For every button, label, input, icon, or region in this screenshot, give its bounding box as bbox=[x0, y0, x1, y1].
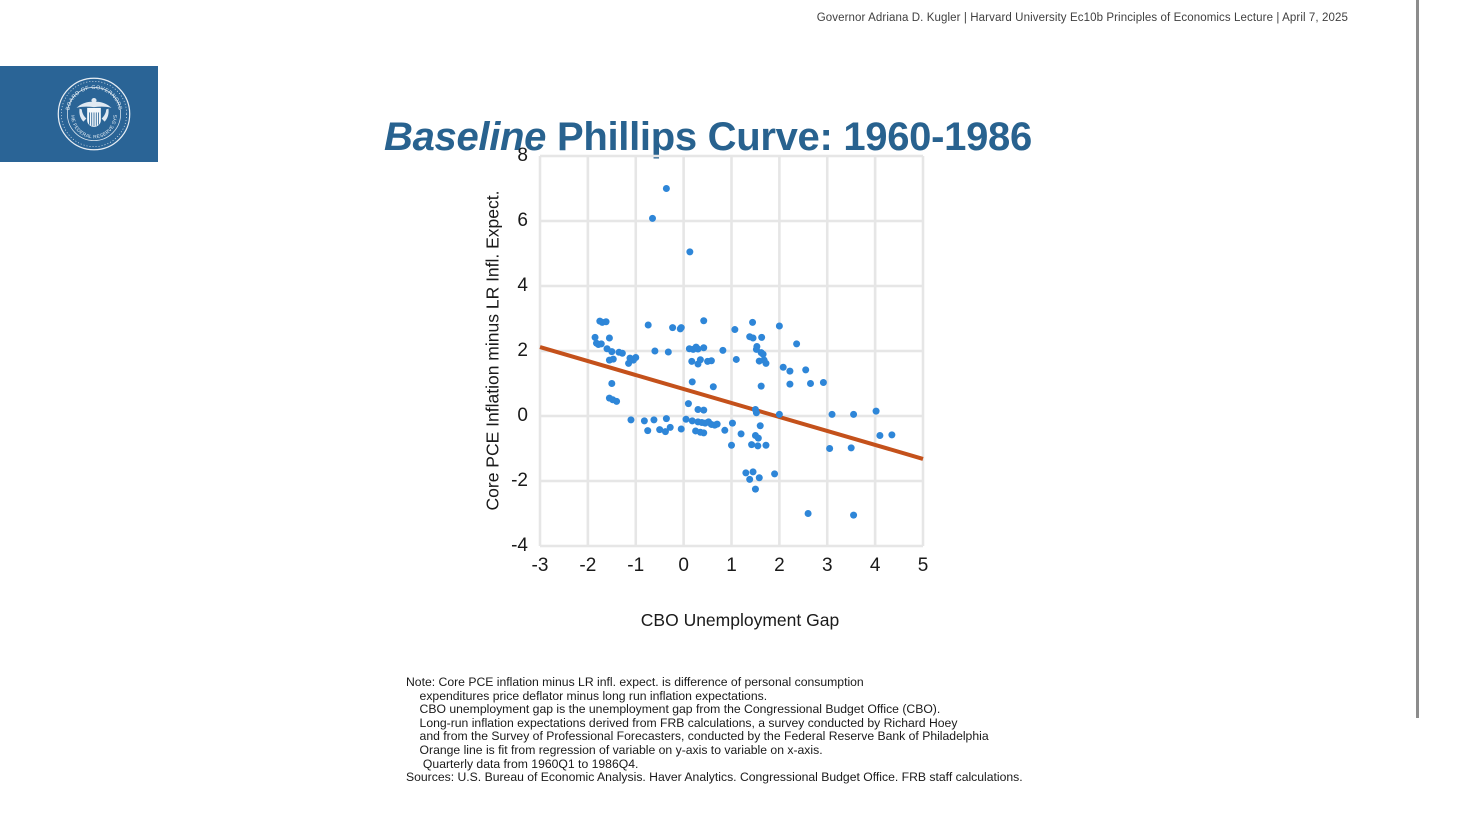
scatter-point bbox=[644, 427, 651, 434]
scatter-point bbox=[793, 340, 800, 347]
y-tick-label: -4 bbox=[511, 535, 528, 557]
scatter-point bbox=[776, 322, 783, 329]
scatter-point bbox=[746, 476, 753, 483]
footnote-line: Long-run inflation expectations derived … bbox=[406, 717, 1023, 731]
scatter-point bbox=[650, 416, 657, 423]
scatter-point bbox=[688, 358, 695, 365]
scatter-point bbox=[632, 354, 639, 361]
scatter-point bbox=[805, 510, 812, 517]
phillips-curve-scatter-chart: Core PCE Inflation minus LR Infl. Expect… bbox=[440, 150, 960, 650]
scatter-point bbox=[756, 474, 763, 481]
x-tick-label: 5 bbox=[918, 555, 929, 577]
scatter-point bbox=[776, 411, 783, 418]
scatter-point bbox=[606, 335, 613, 342]
plot-area: -4-202468 -3-2-1012345 bbox=[540, 156, 923, 546]
x-tick-label: -3 bbox=[532, 555, 549, 577]
scatter-point bbox=[651, 348, 658, 355]
scatter-point bbox=[771, 470, 778, 477]
x-tick-label: -2 bbox=[579, 555, 596, 577]
scatter-point bbox=[786, 368, 793, 375]
scatter-point bbox=[700, 429, 707, 436]
scatter-point bbox=[598, 340, 605, 347]
vertical-scrollbar[interactable] bbox=[1416, 0, 1419, 718]
scatter-point bbox=[757, 422, 764, 429]
scatter-point bbox=[710, 383, 717, 390]
scatter-point bbox=[876, 432, 883, 439]
scatter-point bbox=[750, 468, 757, 475]
scatter-point bbox=[752, 486, 759, 493]
y-tick-label: 2 bbox=[517, 340, 528, 362]
footnote-line: CBO unemployment gap is the unemployment… bbox=[406, 703, 1023, 717]
scatter-point bbox=[786, 381, 793, 388]
y-tick-label: 4 bbox=[517, 275, 528, 297]
x-tick-label: 1 bbox=[726, 555, 737, 577]
scatter-point bbox=[729, 420, 736, 427]
scatter-point bbox=[641, 417, 648, 424]
scatter-point bbox=[685, 400, 692, 407]
x-tick-label: 0 bbox=[678, 555, 689, 577]
scatter-point bbox=[873, 408, 880, 415]
scatter-point bbox=[719, 347, 726, 354]
scatter-point bbox=[754, 442, 761, 449]
scatter-point bbox=[627, 416, 634, 423]
scatter-point bbox=[697, 356, 704, 363]
scatter-point bbox=[755, 435, 762, 442]
footnote-line: expenditures price deflator minus long r… bbox=[406, 690, 1023, 704]
scatter-point bbox=[665, 348, 672, 355]
scatter-point bbox=[721, 427, 728, 434]
y-tick-label: 0 bbox=[517, 405, 528, 427]
scatter-point bbox=[645, 322, 652, 329]
plot-canvas bbox=[540, 156, 923, 546]
scatter-point bbox=[733, 356, 740, 363]
scatter-point bbox=[848, 444, 855, 451]
scatter-point bbox=[608, 380, 615, 387]
scatter-point bbox=[667, 424, 674, 431]
scatter-point bbox=[762, 442, 769, 449]
scatter-point bbox=[780, 364, 787, 371]
scatter-point bbox=[677, 325, 684, 332]
scatter-point bbox=[649, 215, 656, 222]
scatter-point bbox=[850, 411, 857, 418]
scatter-point bbox=[686, 248, 693, 255]
footnote-line: Sources: U.S. Bureau of Economic Analysi… bbox=[406, 771, 1023, 785]
y-tick-label: 8 bbox=[517, 145, 528, 167]
scatter-point bbox=[603, 318, 610, 325]
x-tick-label: 2 bbox=[774, 555, 785, 577]
y-tick-label: -2 bbox=[511, 470, 528, 492]
scatter-point bbox=[820, 379, 827, 386]
x-axis-title: CBO Unemployment Gap bbox=[540, 610, 940, 631]
footnote-line: Quarterly data from 1960Q1 to 1986Q4. bbox=[406, 758, 1023, 772]
footnote-block: Note: Core PCE inflation minus LR infl. … bbox=[406, 676, 1023, 785]
scatter-point bbox=[742, 469, 749, 476]
x-tick-label: -1 bbox=[627, 555, 644, 577]
scatter-point bbox=[663, 185, 670, 192]
scatter-point bbox=[592, 334, 599, 341]
scatter-point bbox=[728, 442, 735, 449]
scatter-point bbox=[625, 360, 632, 367]
scatter-point bbox=[678, 426, 685, 433]
scatter-point bbox=[610, 356, 617, 363]
federal-reserve-seal-icon: BOARD OF GOVERNORS OF THE FEDERAL RESERV… bbox=[56, 76, 132, 152]
scatter-point bbox=[731, 326, 738, 333]
x-tick-label: 4 bbox=[870, 555, 881, 577]
y-axis-title: Core PCE Inflation minus LR Infl. Expect… bbox=[483, 156, 504, 546]
y-tick-label: 6 bbox=[517, 210, 528, 232]
scatter-point bbox=[758, 334, 765, 341]
footnote-line: Orange line is fit from regression of va… bbox=[406, 744, 1023, 758]
scatter-point bbox=[738, 430, 745, 437]
scatter-point bbox=[608, 348, 615, 355]
scatter-point bbox=[750, 335, 757, 342]
scatter-point bbox=[700, 344, 707, 351]
scatter-point bbox=[888, 431, 895, 438]
scatter-point bbox=[762, 360, 769, 367]
scatter-point bbox=[683, 416, 690, 423]
scatter-point bbox=[826, 445, 833, 452]
scatter-point bbox=[663, 415, 670, 422]
scatter-point bbox=[708, 357, 715, 364]
scatter-point bbox=[700, 407, 707, 414]
scatter-point bbox=[700, 317, 707, 324]
scatter-point bbox=[619, 350, 626, 357]
footnote-line: and from the Survey of Professional Fore… bbox=[406, 730, 1023, 744]
scatter-point bbox=[689, 378, 696, 385]
slide-header-text: Governor Adriana D. Kugler | Harvard Uni… bbox=[817, 12, 1348, 24]
scatter-point bbox=[758, 383, 765, 390]
scatter-point bbox=[829, 411, 836, 418]
scatter-point bbox=[760, 351, 767, 358]
scatter-point bbox=[749, 319, 756, 326]
footnote-line: Note: Core PCE inflation minus LR infl. … bbox=[406, 676, 1023, 690]
scatter-point bbox=[753, 409, 760, 416]
gridlines bbox=[540, 156, 923, 546]
scatter-point bbox=[613, 398, 620, 405]
scatter-point bbox=[748, 441, 755, 448]
scatter-point bbox=[714, 421, 721, 428]
scatter-point bbox=[669, 324, 676, 331]
scatter-point bbox=[850, 512, 857, 519]
scatter-point bbox=[807, 380, 814, 387]
x-tick-label: 3 bbox=[822, 555, 833, 577]
scatter-point bbox=[802, 366, 809, 373]
